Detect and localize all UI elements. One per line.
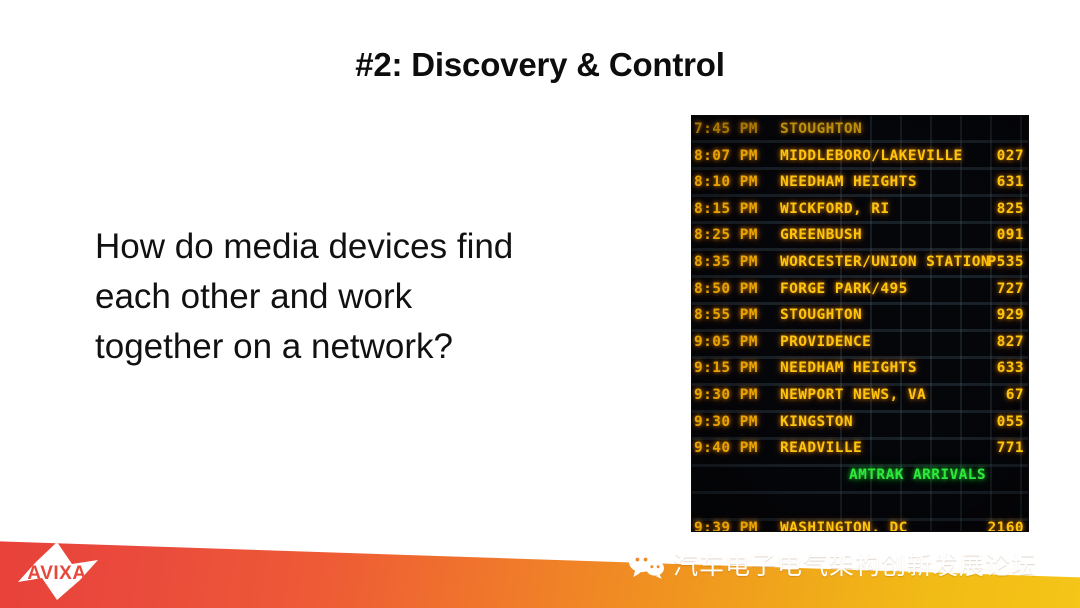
board-row-destination: WICKFORD, RI xyxy=(780,196,890,223)
board-row-destination: KINGSTON xyxy=(780,409,853,436)
board-row-train-number: 67 xyxy=(1006,382,1024,409)
avixa-logo-text: AVIXA xyxy=(27,563,86,584)
wechat-icon xyxy=(628,549,664,580)
body-line: together on a network? xyxy=(95,322,615,372)
board-row-time: 9:05 PM xyxy=(694,329,778,356)
board-row: 8:25 PMGREENBUSH091 xyxy=(692,222,1028,249)
board-row: 9:40 PMREADVILLE771 xyxy=(692,435,1028,462)
board-row-time: 8:35 PM xyxy=(694,249,778,276)
board-row-train-number: 825 xyxy=(997,196,1024,223)
board-row-train-number: 633 xyxy=(997,355,1024,382)
board-row-destination: FORGE PARK/495 xyxy=(780,276,908,303)
board-row-destination: READVILLE xyxy=(780,435,862,462)
board-row-train-number: 771 xyxy=(997,435,1024,462)
board-row-time: 8:15 PM xyxy=(694,196,778,223)
board-row: 8:55 PMSTOUGHTON929 xyxy=(692,302,1028,329)
board-row: 8:07 PMMIDDLEBORO/LAKEVILLE027 xyxy=(692,143,1028,170)
board-row: 8:10 PMNEEDHAM HEIGHTS631 xyxy=(692,169,1028,196)
presentation-slide: #2: Discovery & Control How do media dev… xyxy=(0,0,1080,608)
board-row: 9:30 PMNEWPORT NEWS, VA67 xyxy=(692,382,1028,409)
board-row-destination: PROVIDENCE xyxy=(780,329,871,356)
board-row-train-number: 055 xyxy=(997,409,1024,436)
board-row-destination: NEEDHAM HEIGHTS xyxy=(780,355,917,382)
board-row-time: 8:07 PM xyxy=(694,143,778,170)
board-row-time: 9:30 PM xyxy=(694,409,778,436)
board-row-train-number: P535 xyxy=(987,249,1024,276)
board-row-time: 7:45 PM xyxy=(694,116,778,143)
board-row-time: 8:25 PM xyxy=(694,222,778,249)
board-row-train-number: 2160 xyxy=(987,515,1024,531)
board-spacer xyxy=(692,488,1028,515)
board-row-train-number: 631 xyxy=(997,169,1024,196)
board-row: 8:35 PMWORCESTER/UNION STATIONP535 xyxy=(692,249,1028,276)
departure-board-rows: 7:45 PMSTOUGHTON8:07 PMMIDDLEBORO/LAKEVI… xyxy=(692,116,1028,531)
wechat-footer-group: 汽车电子电气架构创新发展论坛 xyxy=(628,546,1037,582)
board-row-time: 9:30 PM xyxy=(694,382,778,409)
board-row-destination: NEWPORT NEWS, VA xyxy=(780,382,926,409)
board-row-destination: WASHINGTON, DC xyxy=(780,515,908,531)
board-row-time: 9:39 PM xyxy=(694,515,778,531)
board-row: 8:50 PMFORGE PARK/495727 xyxy=(692,276,1028,303)
board-row: 7:45 PMSTOUGHTON xyxy=(692,116,1028,143)
board-row: 9:39 PMWASHINGTON, DC2160 xyxy=(692,515,1028,531)
board-row-train-number: 027 xyxy=(997,143,1024,170)
board-row: 9:15 PMNEEDHAM HEIGHTS633 xyxy=(692,355,1028,382)
board-row: 9:05 PMPROVIDENCE827 xyxy=(692,329,1028,356)
board-row-destination: STOUGHTON xyxy=(780,302,862,329)
page-title: #2: Discovery & Control xyxy=(0,46,1080,84)
board-row-time: 9:40 PM xyxy=(694,435,778,462)
board-row-time: 9:15 PM xyxy=(694,355,778,382)
body-line: each other and work xyxy=(95,272,615,322)
board-row-time: 8:55 PM xyxy=(694,302,778,329)
wechat-caption-text: 汽车电子电气架构创新发展论坛 xyxy=(673,546,1037,582)
slide-body-text: How do media devices find each other and… xyxy=(95,222,615,372)
board-row-train-number: 827 xyxy=(997,329,1024,356)
board-row-train-number: 929 xyxy=(997,302,1024,329)
board-row-destination: STOUGHTON xyxy=(780,116,862,143)
board-row-time: 8:50 PM xyxy=(694,276,778,303)
board-row-time: 8:10 PM xyxy=(694,169,778,196)
body-line: How do media devices find xyxy=(95,222,615,272)
departure-board-image: 7:45 PMSTOUGHTON8:07 PMMIDDLEBORO/LAKEVI… xyxy=(692,116,1028,531)
avixa-star-logo: AVIXA xyxy=(14,540,100,602)
board-row: 8:15 PMWICKFORD, RI825 xyxy=(692,196,1028,223)
board-row-destination: NEEDHAM HEIGHTS xyxy=(780,169,917,196)
board-banner: AMTRAK ARRIVALS xyxy=(692,462,1028,489)
board-row-destination: WORCESTER/UNION STATION xyxy=(780,249,990,276)
board-row-train-number: 727 xyxy=(997,276,1024,303)
board-row-destination: MIDDLEBORO/LAKEVILLE xyxy=(780,143,963,170)
board-banner-text: AMTRAK ARRIVALS xyxy=(849,462,986,489)
board-row-train-number: 091 xyxy=(997,222,1024,249)
board-row-destination: GREENBUSH xyxy=(780,222,862,249)
board-row: 9:30 PMKINGSTON055 xyxy=(692,409,1028,436)
